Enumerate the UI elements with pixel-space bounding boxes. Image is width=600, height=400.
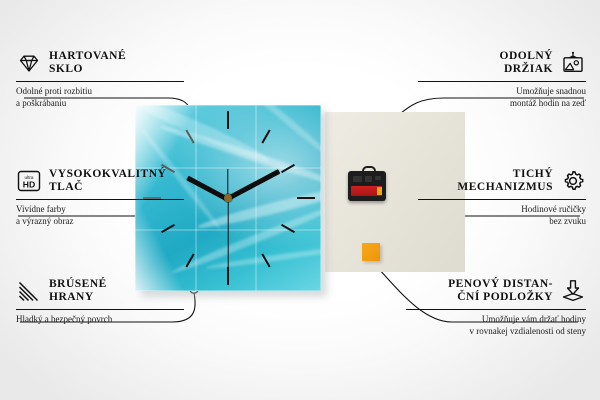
callout-subtitle: Hodinové ručičky bez zvuku — [418, 204, 586, 227]
diamond-icon — [16, 51, 42, 75]
clock-tick-1 — [261, 130, 270, 144]
callout-title: VYSOKOKVALITNÝ TLAČ — [49, 168, 166, 194]
mechanism-detail — [365, 176, 372, 182]
callout-subtitle: Vivídne farby a výrazný obraz — [16, 204, 184, 227]
bevelled-edge-icon — [16, 279, 42, 303]
svg-text:HD: HD — [23, 179, 35, 189]
callout-divider — [406, 309, 586, 310]
callout-subtitle: Umožňuje vám držať hodiny v rovnakej vzd… — [406, 314, 586, 337]
callout-header: TICHÝ MECHANIZMUS — [418, 168, 586, 194]
clock-hand-hub — [224, 194, 232, 202]
infographic-canvas: HARTOVANÉ SKLO Odolné proti rozbitiu a p… — [0, 0, 600, 400]
gear-icon — [560, 169, 586, 193]
callout-divider — [16, 81, 184, 82]
clock-tick-12 — [227, 111, 229, 129]
callout-header: ODOLNÝ DRŽIAK — [418, 50, 586, 76]
callout-divider — [16, 199, 184, 200]
clock-tick-3 — [297, 197, 315, 199]
mechanism-detail — [353, 176, 362, 182]
callout-subtitle: Hladký a bezpečný povrch — [16, 314, 184, 326]
callout-title: PENOVÝ DISTAN- ČNÍ PODLOŽKY — [448, 278, 553, 304]
callout-hardened-glass: HARTOVANÉ SKLO Odolné proti rozbitiu a p… — [16, 50, 184, 109]
callout-header: ultra HD VYSOKOKVALITNÝ TLAČ — [16, 168, 184, 194]
clock-hand-second — [227, 199, 228, 271]
glass-reflection — [195, 105, 197, 291]
callout-header: HARTOVANÉ SKLO — [16, 50, 184, 76]
callout-divider — [418, 81, 586, 82]
callout-high-quality-print: ultra HD VYSOKOKVALITNÝ TLAČ Vivídne far… — [16, 168, 184, 227]
callout-subtitle: Odolné proti rozbitiu a poškrábaniu — [16, 86, 184, 109]
callout-divider — [418, 199, 586, 200]
callout-subtitle: Umožňuje snadnou montáž hodin na zeď — [418, 86, 586, 109]
callout-silent-mechanism: TICHÝ MECHANIZMUS Hodinové ručičky bez z… — [418, 168, 586, 227]
battery-terminal — [377, 187, 382, 195]
clock-mechanism — [348, 167, 386, 201]
callout-header: BRÚSENÉ HRANY — [16, 278, 184, 304]
callout-title: HARTOVANÉ SKLO — [49, 50, 126, 76]
mechanism-detail — [375, 176, 381, 180]
callout-durable-hanger: ODOLNÝ DRŽIAK Umožňuje snadnou montáž ho… — [418, 50, 586, 109]
callout-polished-edges: BRÚSENÉ HRANY Hladký a bezpečný povrch — [16, 278, 184, 326]
ultra-hd-icon: ultra HD — [16, 169, 42, 193]
callout-title: BRÚSENÉ HRANY — [49, 278, 107, 304]
callout-title: ODOLNÝ DRŽIAK — [500, 50, 553, 76]
callout-header: PENOVÝ DISTAN- ČNÍ PODLOŽKY — [406, 278, 586, 304]
foam-spacer-pad — [362, 243, 380, 261]
down-arrow-stack-icon — [560, 279, 586, 303]
picture-frame-icon — [560, 51, 586, 75]
glass-reflection — [255, 105, 257, 291]
callout-divider — [16, 309, 184, 310]
callout-foam-spacers: PENOVÝ DISTAN- ČNÍ PODLOŽKY Umožňuje vám… — [406, 278, 586, 337]
callout-title: TICHÝ MECHANIZMUS — [457, 168, 553, 194]
clock-hand-minute — [227, 169, 281, 201]
